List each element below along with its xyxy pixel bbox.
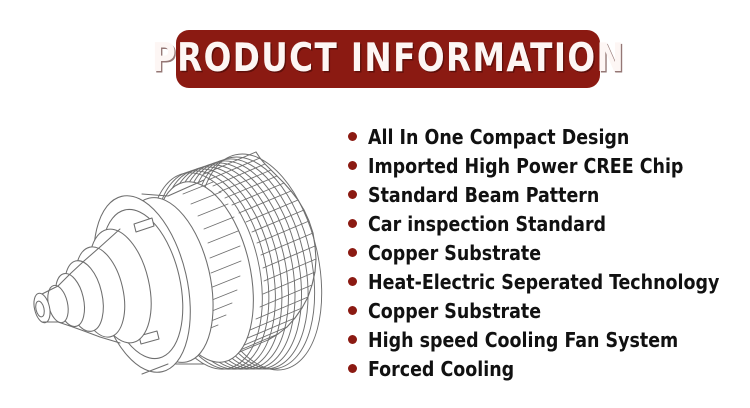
feature-label: High speed Cooling Fan System [368, 330, 678, 350]
led-bulb-line-drawing-icon [8, 112, 346, 394]
list-item: All In One Compact Design [348, 122, 743, 151]
feature-label: Car inspection Standard [368, 214, 606, 234]
bullet-icon [348, 132, 357, 141]
feature-label: Imported High Power CREE Chip [368, 156, 683, 176]
bullet-icon [348, 306, 357, 315]
page-title: PRODUCT INFORMATION [151, 39, 624, 78]
header-banner: PRODUCT INFORMATION [176, 30, 600, 88]
feature-label: Heat-Electric Seperated Technology [368, 272, 719, 292]
feature-label: Copper Substrate [368, 301, 541, 321]
bullet-icon [348, 335, 357, 344]
feature-label: Standard Beam Pattern [368, 185, 599, 205]
bullet-icon [348, 190, 357, 199]
feature-label: Copper Substrate [368, 243, 541, 263]
list-item: Imported High Power CREE Chip [348, 151, 743, 180]
feature-list: All In One Compact Design Imported High … [348, 122, 743, 383]
product-illustration [8, 112, 346, 394]
list-item: Heat-Electric Seperated Technology [348, 267, 743, 296]
list-item: Copper Substrate [348, 238, 743, 267]
feature-label: Forced Cooling [368, 359, 514, 379]
list-item: Copper Substrate [348, 296, 743, 325]
list-item: Car inspection Standard [348, 209, 743, 238]
list-item: Standard Beam Pattern [348, 180, 743, 209]
bullet-icon [348, 364, 357, 373]
list-item: High speed Cooling Fan System [348, 325, 743, 354]
bullet-icon [348, 219, 357, 228]
bullet-icon [348, 161, 357, 170]
list-item: Forced Cooling [348, 354, 743, 383]
feature-label: All In One Compact Design [368, 127, 629, 147]
bullet-icon [348, 277, 357, 286]
bullet-icon [348, 248, 357, 257]
product-information-page: PRODUCT INFORMATION [0, 0, 750, 408]
